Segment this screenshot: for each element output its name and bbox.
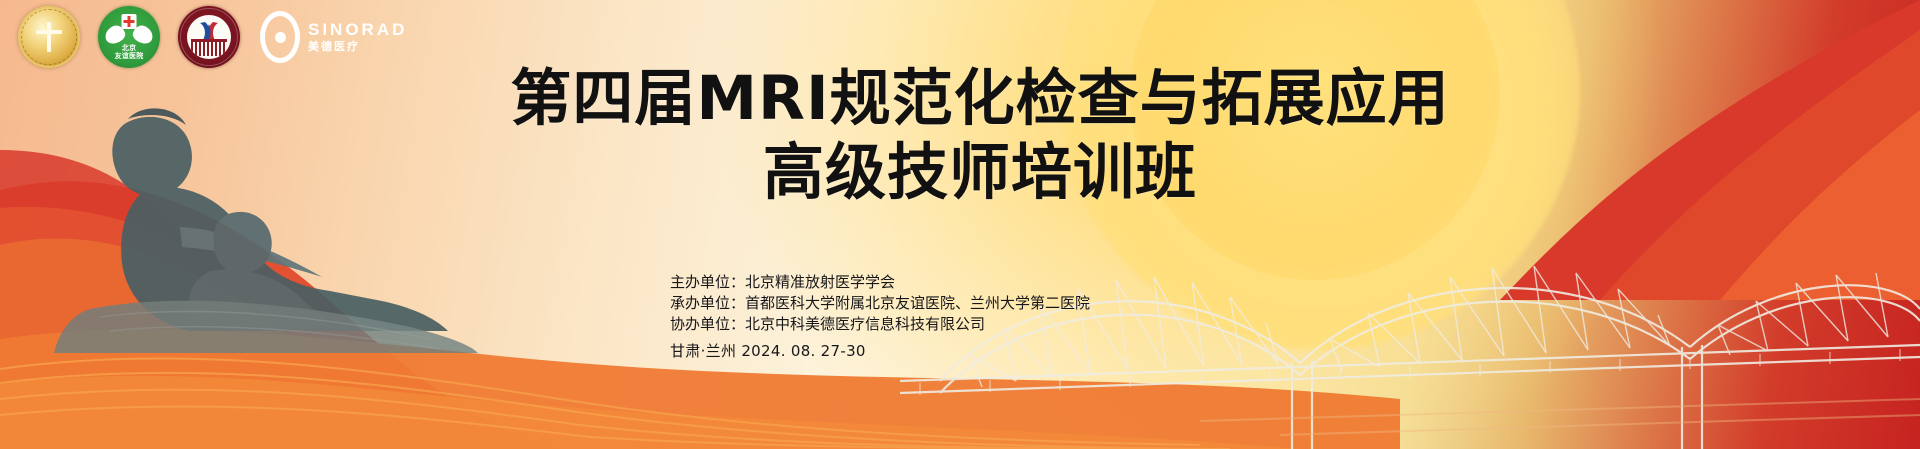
green-seal-text-line1: 北京 [98, 45, 160, 53]
maroon-seal-disc [178, 6, 240, 68]
dove-left-icon [103, 23, 127, 45]
dove-right-icon [131, 23, 155, 45]
ribbon-emblem-icon [196, 21, 222, 41]
organizer-line-host: 主办单位：北京精准放射医学学会 [670, 272, 1090, 293]
building-emblem-icon [191, 39, 227, 56]
gold-seal-logo [18, 6, 80, 68]
conference-banner: 北京 友谊医院 [0, 0, 1920, 449]
beijing-youyi-hospital-logo: 北京 友谊医院 [98, 6, 160, 68]
reclining-buddha-illustration [30, 95, 490, 355]
sinorad-brand-en: SINORAD [308, 21, 407, 38]
green-seal-disc: 北京 友谊医院 [98, 6, 160, 68]
green-seal-text-line2: 友谊医院 [98, 53, 160, 61]
maroon-seal-inner [187, 15, 231, 59]
gold-seal-cross-icon [35, 22, 63, 52]
logo-row: 北京 友谊医院 [18, 6, 407, 68]
sinorad-dot-icon [275, 32, 286, 43]
sinorad-logo: SINORAD 美德医疗 [260, 11, 407, 63]
sinorad-wordmark: SINORAD 美德医疗 [308, 21, 407, 53]
venue-date-line: 甘肃·兰州 2024. 08. 27-30 [670, 341, 1090, 362]
organizer-line-undertaker: 承办单位：首都医科大学附属北京友谊医院、兰州大学第二医院 [670, 293, 1090, 314]
maroon-seal-logo [178, 6, 240, 68]
gold-seal-disc [18, 6, 80, 68]
sinorad-mark-icon [260, 11, 300, 63]
organizer-line-coorganizer: 协办单位：北京中科美德医疗信息科技有限公司 [670, 314, 1090, 335]
organizer-info-block: 主办单位：北京精准放射医学学会 承办单位：首都医科大学附属北京友谊医院、兰州大学… [670, 272, 1090, 362]
sinorad-brand-cn: 美德医疗 [308, 42, 407, 53]
green-seal-text: 北京 友谊医院 [98, 45, 160, 61]
